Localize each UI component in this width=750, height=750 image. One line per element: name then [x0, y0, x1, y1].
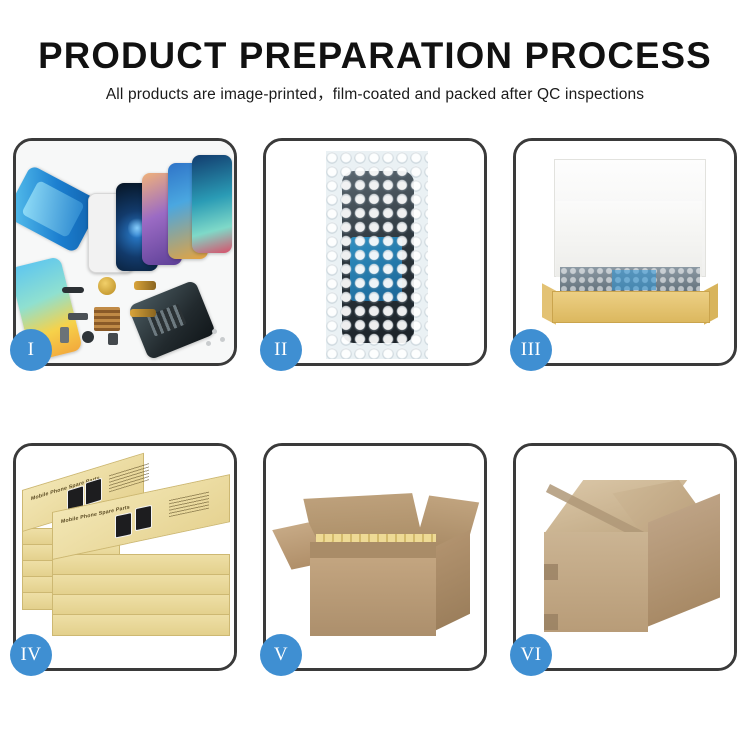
box-phone-graphic-2 [135, 505, 152, 532]
step-badge-6: VI [510, 634, 552, 676]
chip-part-graphic [94, 307, 120, 331]
stacked-boxes-icon: Mobile Phone Spare Parts Mobile Phone Sp… [16, 446, 234, 668]
step-badge-2: II [260, 329, 302, 371]
stacked-box [52, 554, 230, 576]
box-phone-graphic-1 [115, 512, 132, 539]
stacked-box [52, 614, 230, 636]
step-panel-3: III [513, 138, 737, 366]
bubble-film-sheet [326, 151, 428, 359]
page-subtitle: All products are image-printed，film-coat… [0, 85, 750, 105]
step-panel-1: I [13, 138, 237, 366]
button-part-graphic [82, 331, 94, 343]
contents-blue-tint [612, 270, 656, 290]
screw-graphic-2 [220, 337, 225, 342]
bubble-wrap-icon [266, 141, 484, 363]
page-title: PRODUCT PREPARATION PROCESS [4, 34, 747, 78]
sim-tray-graphic [60, 327, 69, 343]
step-badge-5: V [260, 634, 302, 676]
connector-part-graphic [68, 313, 88, 320]
phone-backplate-graphic [128, 280, 216, 361]
phone-parts-icon [16, 141, 234, 363]
screw-graphic-3 [206, 341, 211, 346]
carton-side-right [436, 530, 470, 631]
box-front-panel-graphic [552, 291, 710, 323]
coil-part-graphic [98, 277, 116, 295]
carton-front [310, 558, 436, 636]
step-panel-6: VI [513, 443, 737, 671]
foam-lining-graphic [556, 201, 702, 277]
speaker-part-graphic [62, 287, 84, 293]
product-preparation-infographic: PRODUCT PREPARATION PROCESS All products… [0, 0, 750, 750]
carton-front-face [544, 532, 648, 632]
step-panel-2: II [263, 138, 487, 366]
stacked-box [52, 594, 230, 616]
step-badge-3: III [510, 329, 552, 371]
steps-grid: I II [13, 138, 737, 671]
step-panel-5: V [263, 443, 487, 671]
phone-screen-teal-graphic [192, 155, 232, 253]
carton-tab-upper [544, 564, 558, 580]
flex-cable-graphic-1 [134, 281, 156, 290]
box-stack: Mobile Phone Spare Parts Mobile Phone Sp… [22, 464, 234, 656]
carton-tab-lower [544, 614, 558, 630]
step-panel-4: Mobile Phone Spare Parts Mobile Phone Sp… [13, 443, 237, 671]
bubble-shading [326, 151, 428, 359]
sealed-carton-icon [516, 446, 734, 668]
screw-graphic-1 [212, 329, 217, 334]
header: PRODUCT PREPARATION PROCESS All products… [0, 34, 750, 105]
flex-cable-graphic-2 [130, 309, 156, 317]
camera-part-graphic [108, 333, 118, 345]
open-foam-box-icon [516, 141, 734, 363]
step-badge-4: IV [10, 634, 52, 676]
step-badge-1: I [10, 329, 52, 371]
stacked-box [52, 574, 230, 596]
open-carton-icon [266, 446, 484, 668]
